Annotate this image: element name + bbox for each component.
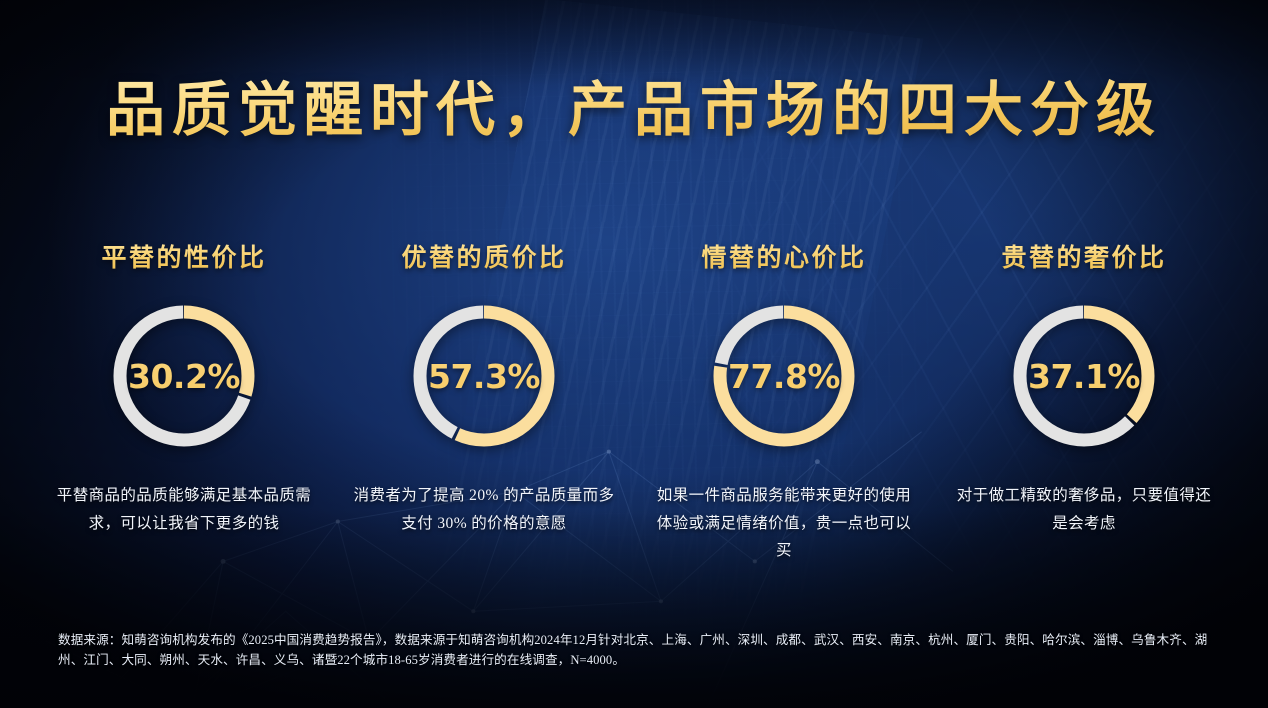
donut-chart: 30.2% <box>104 296 264 456</box>
card-caption: 对于做工精致的奢侈品，只要值得还是会考虑 <box>949 482 1219 537</box>
page-title: 品质觉醒时代，产品市场的四大分级 <box>0 78 1268 143</box>
donut-value-label: 37.1% <box>1004 296 1164 456</box>
metric-card: 贵替的奢价比 37.1% 对于做工精致的奢侈品，只要值得还是会考虑 <box>936 238 1232 537</box>
card-heading: 优替的质价比 <box>401 238 566 274</box>
metric-card: 情替的心价比 77.8% 如果一件商品服务能带来更好的使用体验或满足情绪价值，贵… <box>636 238 932 565</box>
donut-value-label: 77.8% <box>704 296 864 456</box>
data-source-footnote: 数据来源：知萌咨询机构发布的《2025中国消费趋势报告》，数据来源于知萌咨询机构… <box>58 630 1222 671</box>
card-heading: 贵替的奢价比 <box>1001 238 1166 274</box>
card-caption: 平替商品的品质能够满足基本品质需求，可以让我省下更多的钱 <box>49 482 319 537</box>
metric-card: 平替的性价比 30.2% 平替商品的品质能够满足基本品质需求，可以让我省下更多的… <box>36 238 332 537</box>
donut-chart: 77.8% <box>704 296 864 456</box>
card-heading: 情替的心价比 <box>701 238 866 274</box>
donut-value-label: 30.2% <box>104 296 264 456</box>
metric-card-row: 平替的性价比 30.2% 平替商品的品质能够满足基本品质需求，可以让我省下更多的… <box>36 238 1232 565</box>
donut-chart: 57.3% <box>404 296 564 456</box>
donut-chart: 37.1% <box>1004 296 1164 456</box>
metric-card: 优替的质价比 57.3% 消费者为了提高 20% 的产品质量而多支付 30% 的… <box>336 238 632 537</box>
card-caption: 如果一件商品服务能带来更好的使用体验或满足情绪价值，贵一点也可以买 <box>649 482 919 565</box>
slide-root: 品质觉醒时代，产品市场的四大分级 平替的性价比 30.2% 平替商品的品质能够满… <box>0 0 1268 708</box>
card-caption: 消费者为了提高 20% 的产品质量而多支付 30% 的价格的意愿 <box>349 482 619 537</box>
donut-value-label: 57.3% <box>404 296 564 456</box>
slide-content: 品质觉醒时代，产品市场的四大分级 平替的性价比 30.2% 平替商品的品质能够满… <box>0 0 1268 708</box>
card-heading: 平替的性价比 <box>101 238 266 274</box>
